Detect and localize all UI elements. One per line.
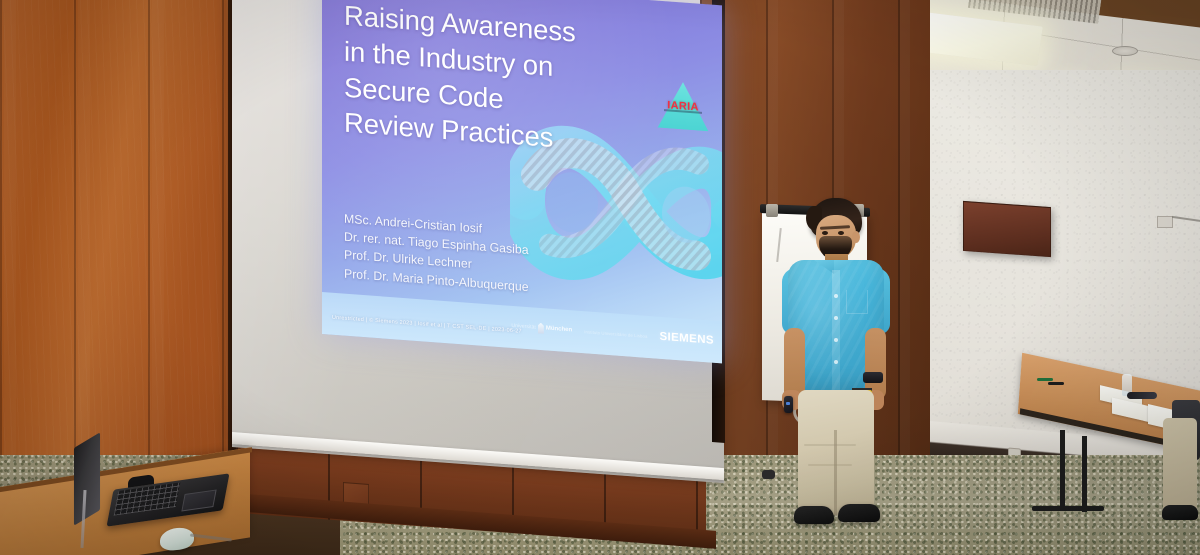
unibw-prefix-text: Universität: [511, 323, 536, 331]
slide-title: Raising Awareness in the Industry on Sec…: [344, 0, 624, 161]
iaria-logo-text: IARIA: [656, 99, 710, 115]
laptop-screen[interactable]: [74, 432, 100, 525]
trouser-fold: [804, 444, 856, 446]
seated-attendee-shoe: [1162, 505, 1198, 520]
seated-attendee-leg: [1163, 418, 1197, 514]
slide-footer-text: Unrestricted | © Siemens 2023 | Iosif et…: [332, 315, 522, 335]
shirt-button: [834, 338, 838, 342]
presenter-shirt-pocket: [846, 290, 868, 314]
slide-logo-row: Universität München Instituto Universitá…: [511, 320, 714, 347]
iaria-logo: IARIA: [656, 79, 710, 135]
unibw-city-text: München: [546, 325, 572, 333]
smoke-detector-icon: [1112, 46, 1138, 56]
presenter-shoe-right: [838, 504, 880, 522]
presenter-eye: [838, 231, 844, 235]
projected-slide: IARIA Raising Awareness in the Industry …: [322, 0, 722, 363]
shirt-button: [834, 316, 838, 320]
wall-outlet-plate: [1157, 216, 1173, 228]
shirt-button: [834, 360, 838, 364]
presenter-shirt-placket: [832, 270, 840, 398]
marker-pen[interactable]: [1048, 382, 1064, 385]
trouser-fold: [808, 464, 852, 466]
wall-speaker: [963, 201, 1051, 257]
siemens-logo: SIEMENS: [659, 331, 714, 347]
table-leg: [1082, 436, 1087, 512]
table-foot: [1032, 506, 1104, 511]
marker-pen[interactable]: [1037, 378, 1053, 381]
eyeglasses: [1127, 392, 1157, 399]
shirt-button: [834, 294, 838, 298]
clicker-led-icon: [786, 402, 790, 405]
unibw-crest-icon: [538, 322, 544, 333]
iscte-lisboa-logo: Instituto Universitário de Lisboa: [584, 329, 647, 339]
trouser-inseam: [834, 430, 837, 516]
presenter-shoe-left: [794, 506, 834, 524]
presenter: [762, 198, 892, 538]
presenter-eye: [822, 231, 828, 235]
presenter-ear: [852, 231, 860, 243]
table-leg: [1060, 430, 1065, 508]
presentation-photo-scene: IARIA Raising Awareness in the Industry …: [0, 0, 1200, 555]
presenter-wristwatch: [863, 372, 883, 383]
